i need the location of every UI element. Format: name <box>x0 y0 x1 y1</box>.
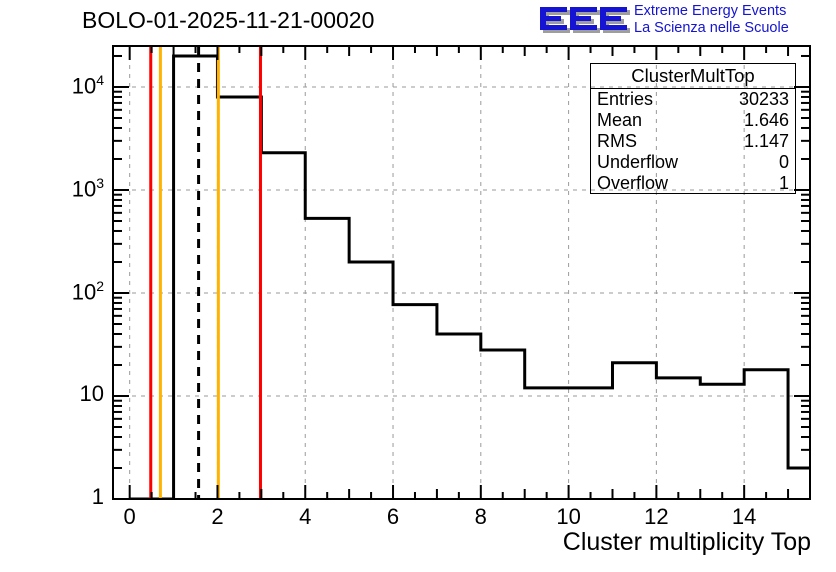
stats-row-key: Underflow <box>597 152 678 173</box>
stats-box: ClusterMultTop Entries30233Mean1.646RMS1… <box>590 63 796 194</box>
stats-row: Underflow0 <box>597 152 789 173</box>
y-tick-label: 104 <box>46 72 104 99</box>
x-axis-title: Cluster multiplicity Top <box>563 528 811 557</box>
stats-row-value: 1.646 <box>744 110 789 131</box>
y-tick-label: 10 <box>46 381 104 407</box>
x-tick-label: 0 <box>124 504 136 530</box>
x-tick-label: 10 <box>556 504 580 530</box>
x-tick-label: 8 <box>475 504 487 530</box>
stats-row-value: 1.147 <box>744 131 789 152</box>
stats-row-key: Overflow <box>597 173 668 194</box>
x-tick-label: 12 <box>644 504 668 530</box>
stats-row: Entries30233 <box>597 89 789 110</box>
stats-row: Overflow1 <box>597 173 789 194</box>
stats-box-title: ClusterMultTop <box>591 64 795 89</box>
stats-row-key: Mean <box>597 110 642 131</box>
x-tick-label: 14 <box>732 504 756 530</box>
stats-row-key: Entries <box>597 89 653 110</box>
stats-row: RMS1.147 <box>597 131 789 152</box>
x-tick-label: 6 <box>387 504 399 530</box>
stats-row: Mean1.646 <box>597 110 789 131</box>
y-tick-label: 103 <box>46 175 104 202</box>
stats-row-value: 30233 <box>739 89 789 110</box>
stats-box-rows: Entries30233Mean1.646RMS1.147Underflow0O… <box>591 89 795 194</box>
root-canvas: BOLO-01-2025-11-21-00020 <box>0 0 836 572</box>
stats-row-value: 1 <box>779 173 789 194</box>
x-tick-label: 4 <box>299 504 311 530</box>
x-tick-label: 2 <box>211 504 223 530</box>
stats-row-value: 0 <box>779 152 789 173</box>
y-tick-label: 102 <box>46 278 104 305</box>
stats-row-key: RMS <box>597 131 637 152</box>
y-tick-label: 1 <box>46 484 104 510</box>
